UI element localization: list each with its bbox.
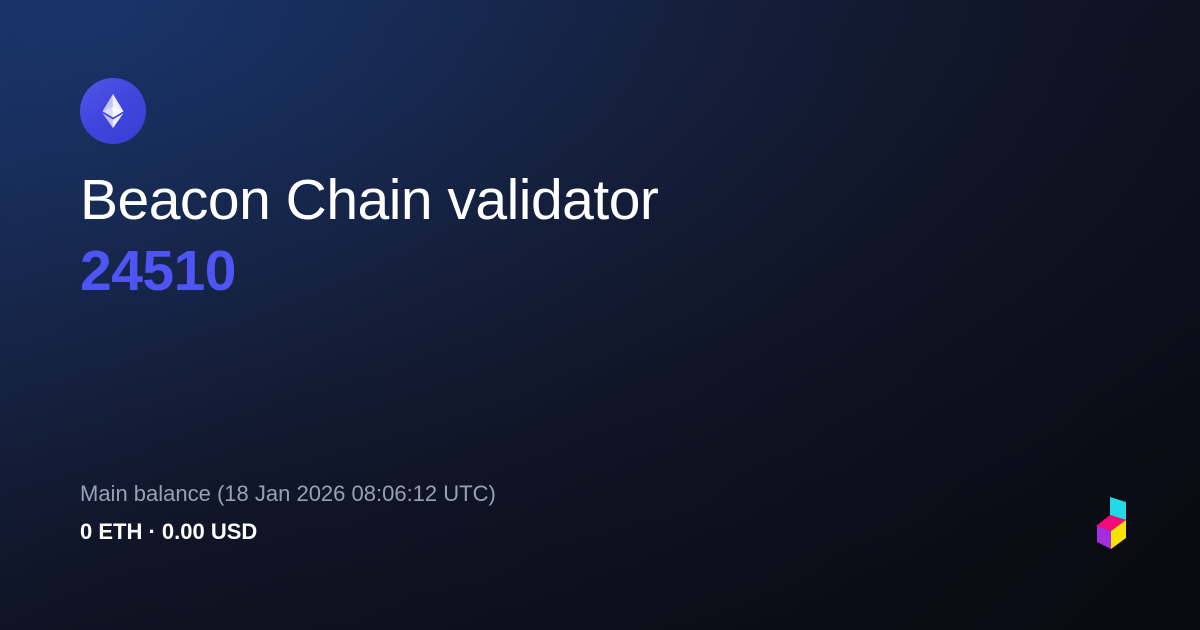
card-header-block: Beacon Chain validator 24510 (0, 0, 1200, 304)
balance-value: 0 ETH · 0.00 USD (80, 520, 496, 544)
balance-summary: Main balance (18 Jan 2026 08:06:12 UTC) … (80, 482, 496, 544)
balance-label: Main balance (18 Jan 2026 08:06:12 UTC) (80, 482, 496, 506)
beaconchain-logo-icon (1094, 494, 1138, 556)
ethereum-icon (80, 78, 146, 144)
og-preview-card: Beacon Chain validator 24510 Main balanc… (0, 0, 1200, 630)
page-title-text: Beacon Chain validator (80, 168, 658, 232)
validator-index: 24510 (80, 239, 1120, 304)
page-title: Beacon Chain validator 24510 (80, 168, 1120, 304)
